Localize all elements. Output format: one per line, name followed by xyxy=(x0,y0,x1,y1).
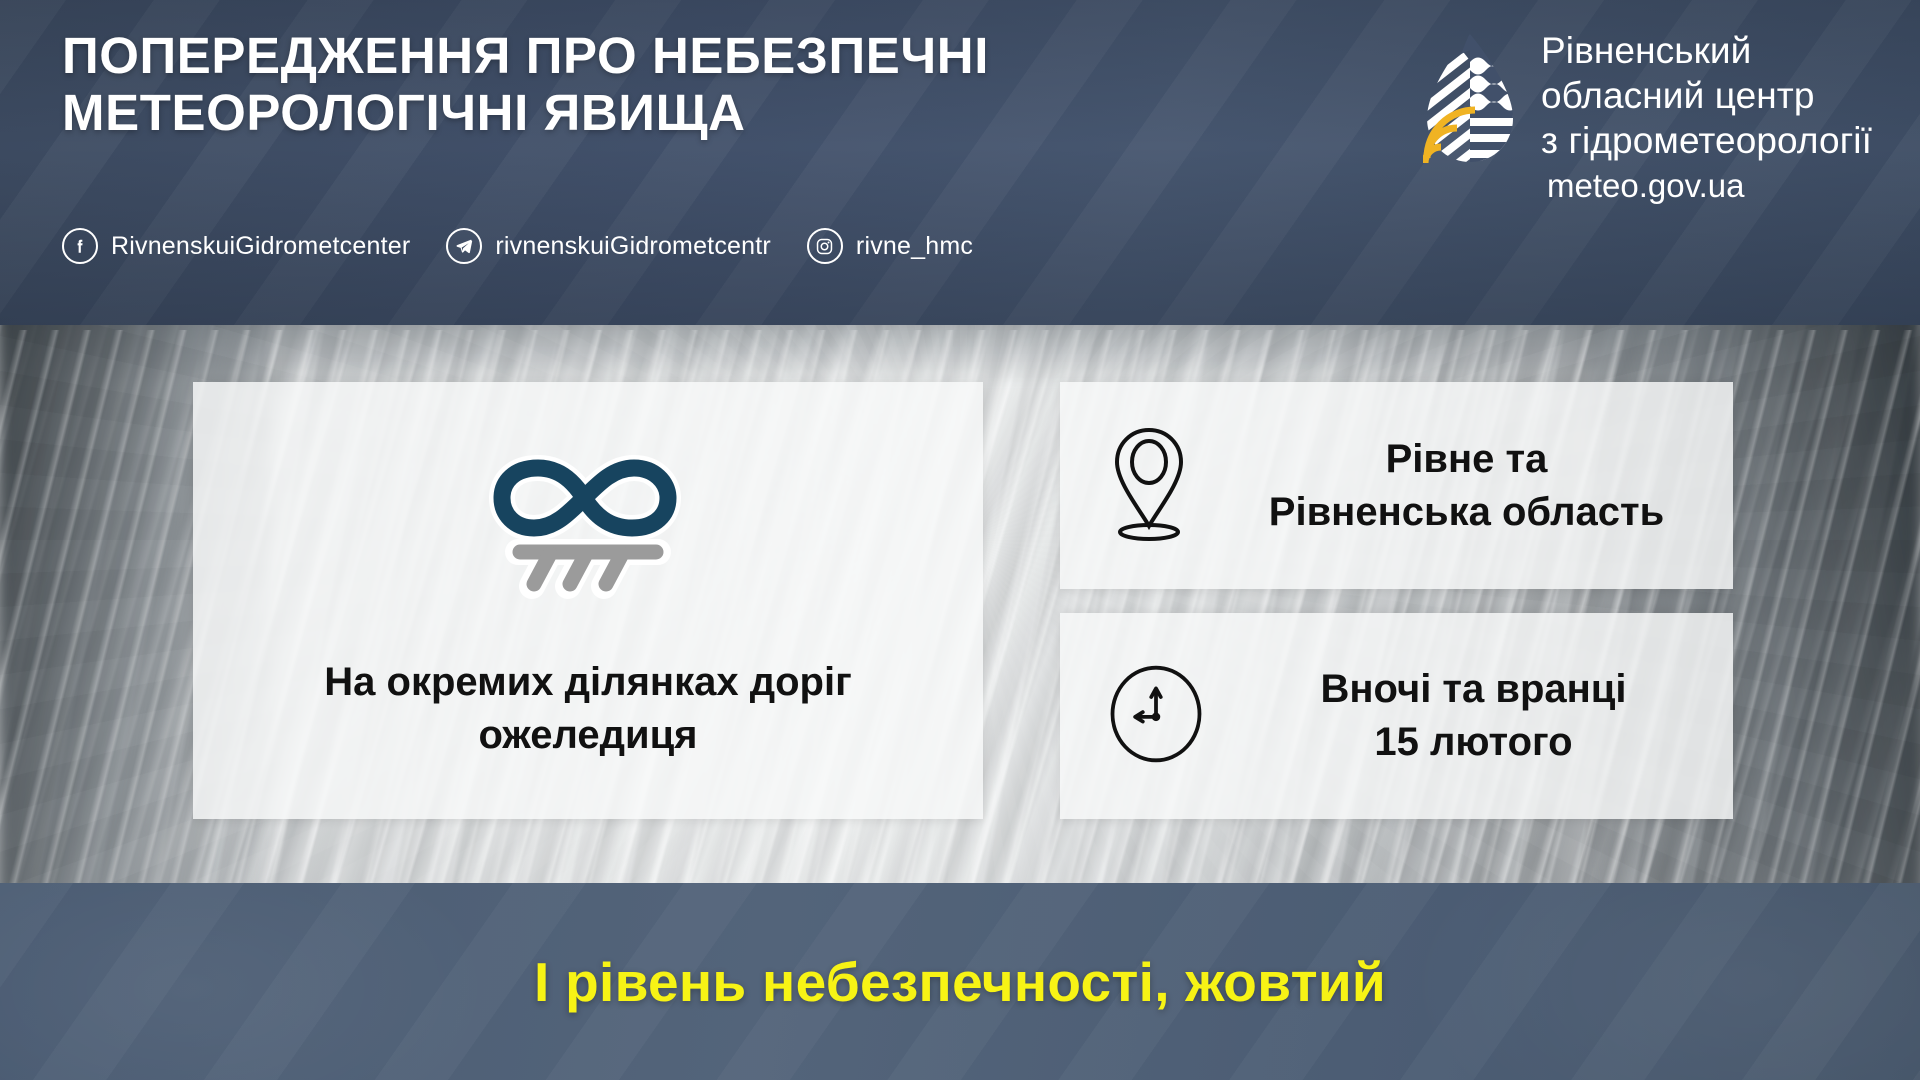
weather-warning-poster: ПОПЕРЕДЖЕННЯ ПРО НЕБЕЗПЕЧНІ МЕТЕОРОЛОГІЧ… xyxy=(0,0,1920,1080)
instagram-icon xyxy=(807,228,843,264)
location-text: Рівне та Рівненська область xyxy=(1234,433,1699,539)
social-links-row: RivnenskuiGidrometcenter rivnenskuiGidro… xyxy=(62,228,973,264)
time-line-2: 15 лютого xyxy=(1374,720,1572,764)
social-link-instagram[interactable]: rivne_hmc xyxy=(807,228,973,264)
danger-level-text: І рівень небезпечності, жовтий xyxy=(534,950,1386,1014)
page-title: ПОПЕРЕДЖЕННЯ ПРО НЕБЕЗПЕЧНІ МЕТЕОРОЛОГІЧ… xyxy=(62,27,1242,141)
black-ice-glaze-icon xyxy=(474,422,702,622)
social-handle-facebook: RivnenskuiGidrometcenter xyxy=(111,232,410,261)
social-link-telegram[interactable]: rivnenskuiGidrometcentr xyxy=(446,228,771,264)
facebook-icon xyxy=(62,228,98,264)
telegram-icon xyxy=(446,228,482,264)
hazard-card: На окремих ділянках доріг ожеледиця xyxy=(193,382,983,819)
social-handle-instagram: rivne_hmc xyxy=(856,232,973,261)
location-card: Рівне та Рівненська область xyxy=(1060,382,1733,589)
footer-band: І рівень небезпечності, жовтий xyxy=(0,883,1920,1080)
page-title-line-1: ПОПЕРЕДЖЕННЯ ПРО НЕБЕЗПЕЧНІ xyxy=(62,27,1242,84)
location-line-2: Рівненська область xyxy=(1269,490,1664,534)
map-pin-icon xyxy=(1104,424,1194,547)
social-handle-telegram: rivnenskuiGidrometcentr xyxy=(495,232,771,261)
page-title-line-2: МЕТЕОРОЛОГІЧНІ ЯВИЩА xyxy=(62,84,1242,141)
header-band: ПОПЕРЕДЖЕННЯ ПРО НЕБЕЗПЕЧНІ МЕТЕОРОЛОГІЧ… xyxy=(0,0,1920,325)
clock-icon xyxy=(1104,662,1208,771)
organization-name-line-3: з гідрометеорології xyxy=(1541,118,1872,163)
time-line-1: Вночі та вранці xyxy=(1320,667,1626,711)
organization-brand: Рівненський обласний центр з гідрометеор… xyxy=(1423,28,1872,207)
organization-name-line-1: Рівненський xyxy=(1541,28,1872,73)
time-card: Вночі та вранці 15 лютого xyxy=(1060,613,1733,819)
organization-name-line-2: обласний центр xyxy=(1541,73,1872,118)
organization-website-url[interactable]: meteo.gov.ua xyxy=(1547,165,1872,207)
hydrometeorology-droplet-logo-icon xyxy=(1423,32,1517,164)
time-text: Вночі та вранці 15 лютого xyxy=(1248,663,1699,769)
organization-name: Рівненський обласний центр з гідрометеор… xyxy=(1541,28,1872,207)
location-line-1: Рівне та xyxy=(1386,437,1548,481)
hazard-description: На окремих ділянках доріг ожеледиця xyxy=(233,656,943,762)
social-link-facebook[interactable]: RivnenskuiGidrometcenter xyxy=(62,228,410,264)
